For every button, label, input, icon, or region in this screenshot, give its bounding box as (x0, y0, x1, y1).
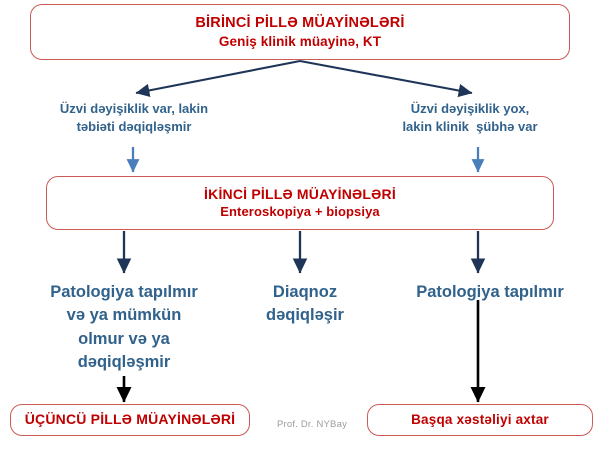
box-first-stage-subtitle: Geniş klinik müayinə, KT (219, 33, 381, 50)
label-outcome-no-pathology-right: Patologiya tapılmır (385, 281, 595, 303)
label-outcome-diagnosis-clarified: Diaqnoz dəqiqləşir (240, 281, 370, 328)
label-outcome-no-pathology-left: Patologiya tapılmır və ya mümkün olmur v… (14, 281, 234, 375)
author-watermark: Prof. Dr. NYBay (262, 419, 362, 430)
box-search-other-disease[interactable]: Başqa xəstəliyi axtar (367, 404, 593, 436)
label-left-branch-condition: Üzvi dəyişiklik var, lakin təbiəti dəqiq… (14, 100, 254, 135)
box-third-stage-title: ÜÇÜNCÜ PİLLƏ MÜAYİNƏLƏRİ (25, 411, 236, 429)
label-right-branch-condition: Üzvi dəyişiklik yox, lakin klinik şübhə … (355, 100, 585, 135)
arrow-split-right (300, 61, 472, 93)
box-third-stage-examinations[interactable]: ÜÇÜNCÜ PİLLƏ MÜAYİNƏLƏRİ (10, 404, 250, 436)
box-first-stage-examinations[interactable]: BİRİNCİ PİLLƏ MÜAYİNƏLƏRİ Geniş klinik m… (30, 4, 570, 60)
box-second-stage-subtitle: Enteroskopiya + biopsiya (220, 204, 380, 221)
box-second-stage-examinations[interactable]: İKİNCİ PİLLƏ MÜAYİNƏLƏRİ Enteroskopiya +… (46, 176, 554, 230)
arrow-split-left (136, 61, 300, 93)
flowchart-canvas: BİRİNCİ PİLLƏ MÜAYİNƏLƏRİ Geniş klinik m… (0, 0, 600, 450)
box-search-other-disease-title: Başqa xəstəliyi axtar (411, 411, 549, 428)
box-first-stage-title: BİRİNCİ PİLLƏ MÜAYİNƏLƏRİ (195, 14, 404, 33)
box-second-stage-title: İKİNCİ PİLLƏ MÜAYİNƏLƏRİ (204, 186, 396, 204)
